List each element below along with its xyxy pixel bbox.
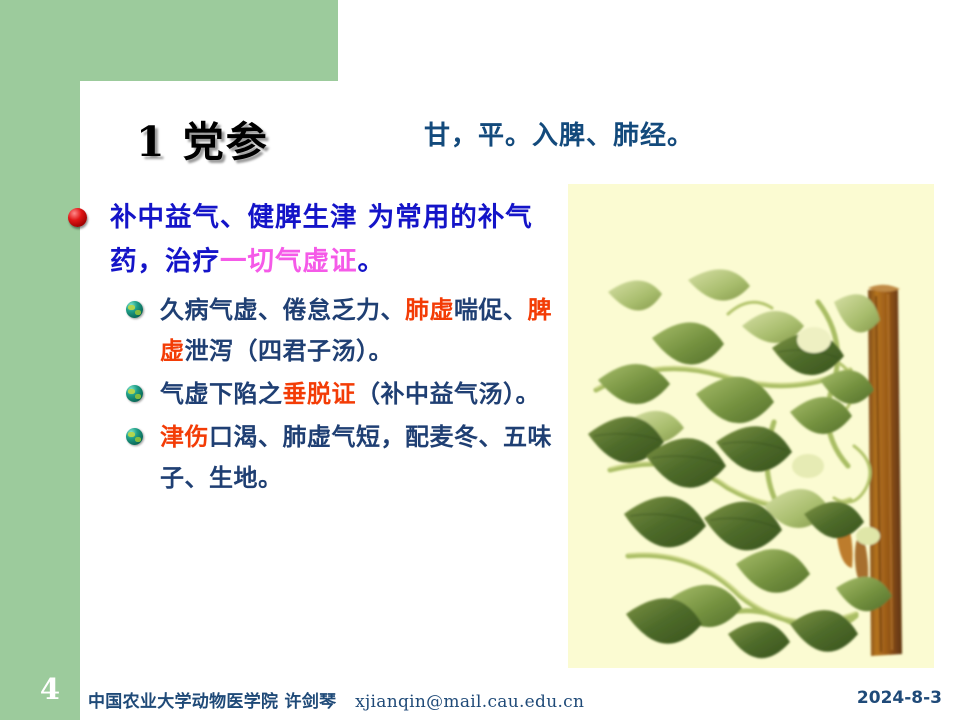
- l2-1-segment-2: 肺虚: [405, 296, 454, 324]
- footer-institution: 中国农业大学动物医学院 许剑琴 xjianqin@mail.cau.edu.cn: [88, 687, 584, 712]
- level2-paragraph-3: 津伤口渴、肺虚气短，配麦冬、五味子、生地。: [160, 417, 565, 499]
- l2-2-segment-3: （补中益气汤）。: [356, 380, 540, 408]
- slide-subtitle: 甘，平。入脾、肺经。: [424, 115, 694, 152]
- l2-1-segment-5: 泄泻（四君子汤）。: [185, 337, 394, 365]
- level1-segment-2: 一切气虚证: [220, 246, 358, 277]
- level2-paragraph-2: 气虚下陷之垂脱证（补中益气汤）。: [160, 374, 565, 415]
- footer-date: 2024-8-3: [857, 688, 942, 708]
- list-item: 气虚下陷之垂脱证（补中益气汤）。: [126, 374, 565, 415]
- l2-1-segment-1: 久病气虚、倦怠乏力、: [160, 296, 405, 324]
- l2-2-segment-2: 垂脱证: [283, 380, 357, 408]
- l2-1-segment-3: 喘促、: [454, 296, 528, 324]
- footer-email[interactable]: xjianqin@mail.cau.edu.cn: [355, 692, 584, 712]
- footer-institution-label: 中国农业大学动物医学院 许剑琴: [88, 692, 336, 712]
- level2-list: 久病气虚、倦怠乏力、肺虚喘促、脾虚泄泻（四君子汤）。 气虚下陷之垂脱证（补中益气…: [60, 290, 565, 499]
- codonopsis-plant-illustration: [568, 184, 934, 668]
- slide-body: 补中益气、健脾生津 为常用的补气药，治疗一切气虚证。 久病气虚、倦怠乏力、肺虚喘…: [60, 196, 565, 501]
- level1-paragraph: 补中益气、健脾生津 为常用的补气药，治疗一切气虚证。: [110, 196, 565, 284]
- globe-bullet-icon: [126, 301, 143, 318]
- l2-2-segment-1: 气虚下陷之: [160, 380, 283, 408]
- list-item: 津伤口渴、肺虚气短，配麦冬、五味子、生地。: [126, 417, 565, 499]
- plant-illustration-graphic: [568, 184, 934, 668]
- page-title: 1 党参: [136, 108, 269, 168]
- level1-segment-3: 。: [358, 246, 386, 277]
- red-sphere-bullet-icon: [68, 208, 87, 227]
- list-item: 补中益气、健脾生津 为常用的补气药，治疗一切气虚证。: [60, 196, 565, 284]
- globe-bullet-icon: [126, 385, 143, 402]
- slide-canvas: 1 党参 甘，平。入脾、肺经。 补中益气、健脾生津 为常用的补气药，治疗一切气虚…: [0, 0, 960, 720]
- globe-bullet-icon: [126, 428, 143, 445]
- level2-paragraph-1: 久病气虚、倦怠乏力、肺虚喘促、脾虚泄泻（四君子汤）。: [160, 290, 565, 372]
- decorative-green-top-block: [0, 0, 338, 81]
- l2-3-segment-2: 口渴、肺虚气短，配麦冬、五味子、生地。: [160, 423, 552, 492]
- page-number: 4: [28, 672, 72, 706]
- list-item: 久病气虚、倦怠乏力、肺虚喘促、脾虚泄泻（四君子汤）。: [126, 290, 565, 372]
- l2-3-segment-1: 津伤: [160, 423, 209, 451]
